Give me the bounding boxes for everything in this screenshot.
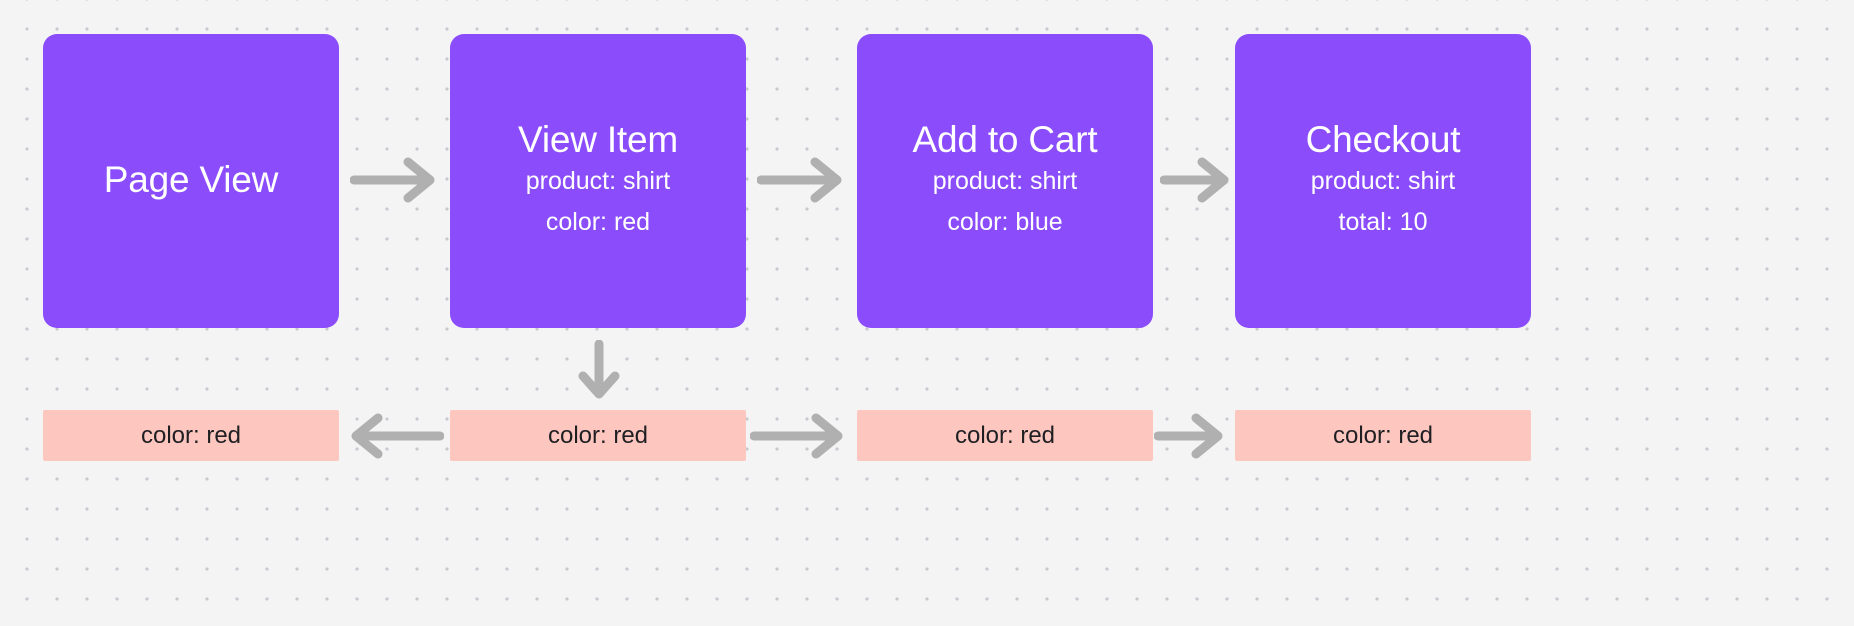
event-node-checkout[interactable]: Checkout product: shirt total: 10 bbox=[1235, 34, 1531, 328]
arrow-right-icon bbox=[750, 413, 854, 459]
event-node-title: Add to Cart bbox=[913, 120, 1098, 160]
event-node-add-to-cart[interactable]: Add to Cart product: shirt color: blue bbox=[857, 34, 1153, 328]
event-node-properties: product: shirt color: blue bbox=[933, 161, 1078, 242]
arrow-right-icon bbox=[1160, 156, 1236, 204]
event-node-title: Page View bbox=[104, 160, 278, 200]
event-node-title: Checkout bbox=[1306, 120, 1461, 160]
event-property: color: blue bbox=[947, 202, 1062, 243]
property-node-label: color: red bbox=[141, 422, 241, 450]
arrow-right-icon bbox=[1154, 413, 1230, 459]
property-node[interactable]: color: red bbox=[450, 410, 746, 461]
property-node-label: color: red bbox=[548, 422, 648, 450]
event-node-view-item[interactable]: View Item product: shirt color: red bbox=[450, 34, 746, 328]
event-node-page-view[interactable]: Page View bbox=[43, 34, 339, 328]
arrow-left-icon bbox=[340, 413, 444, 459]
property-node-label: color: red bbox=[1333, 422, 1433, 450]
arrow-down-icon bbox=[575, 340, 623, 402]
event-property: product: shirt bbox=[933, 161, 1078, 202]
arrow-right-icon bbox=[757, 156, 849, 204]
diagram-canvas[interactable]: Page View View Item product: shirt color… bbox=[0, 0, 1854, 626]
property-node[interactable]: color: red bbox=[43, 410, 339, 461]
event-property: product: shirt bbox=[1311, 161, 1456, 202]
property-node[interactable]: color: red bbox=[1235, 410, 1531, 461]
arrow-right-icon bbox=[350, 156, 442, 204]
property-node-label: color: red bbox=[955, 422, 1055, 450]
event-node-properties: product: shirt total: 10 bbox=[1311, 161, 1456, 242]
property-node[interactable]: color: red bbox=[857, 410, 1153, 461]
event-property: color: red bbox=[546, 202, 650, 243]
event-node-title: View Item bbox=[518, 120, 678, 160]
event-node-properties: product: shirt color: red bbox=[526, 161, 671, 242]
event-property: total: 10 bbox=[1339, 202, 1428, 243]
event-property: product: shirt bbox=[526, 161, 671, 202]
